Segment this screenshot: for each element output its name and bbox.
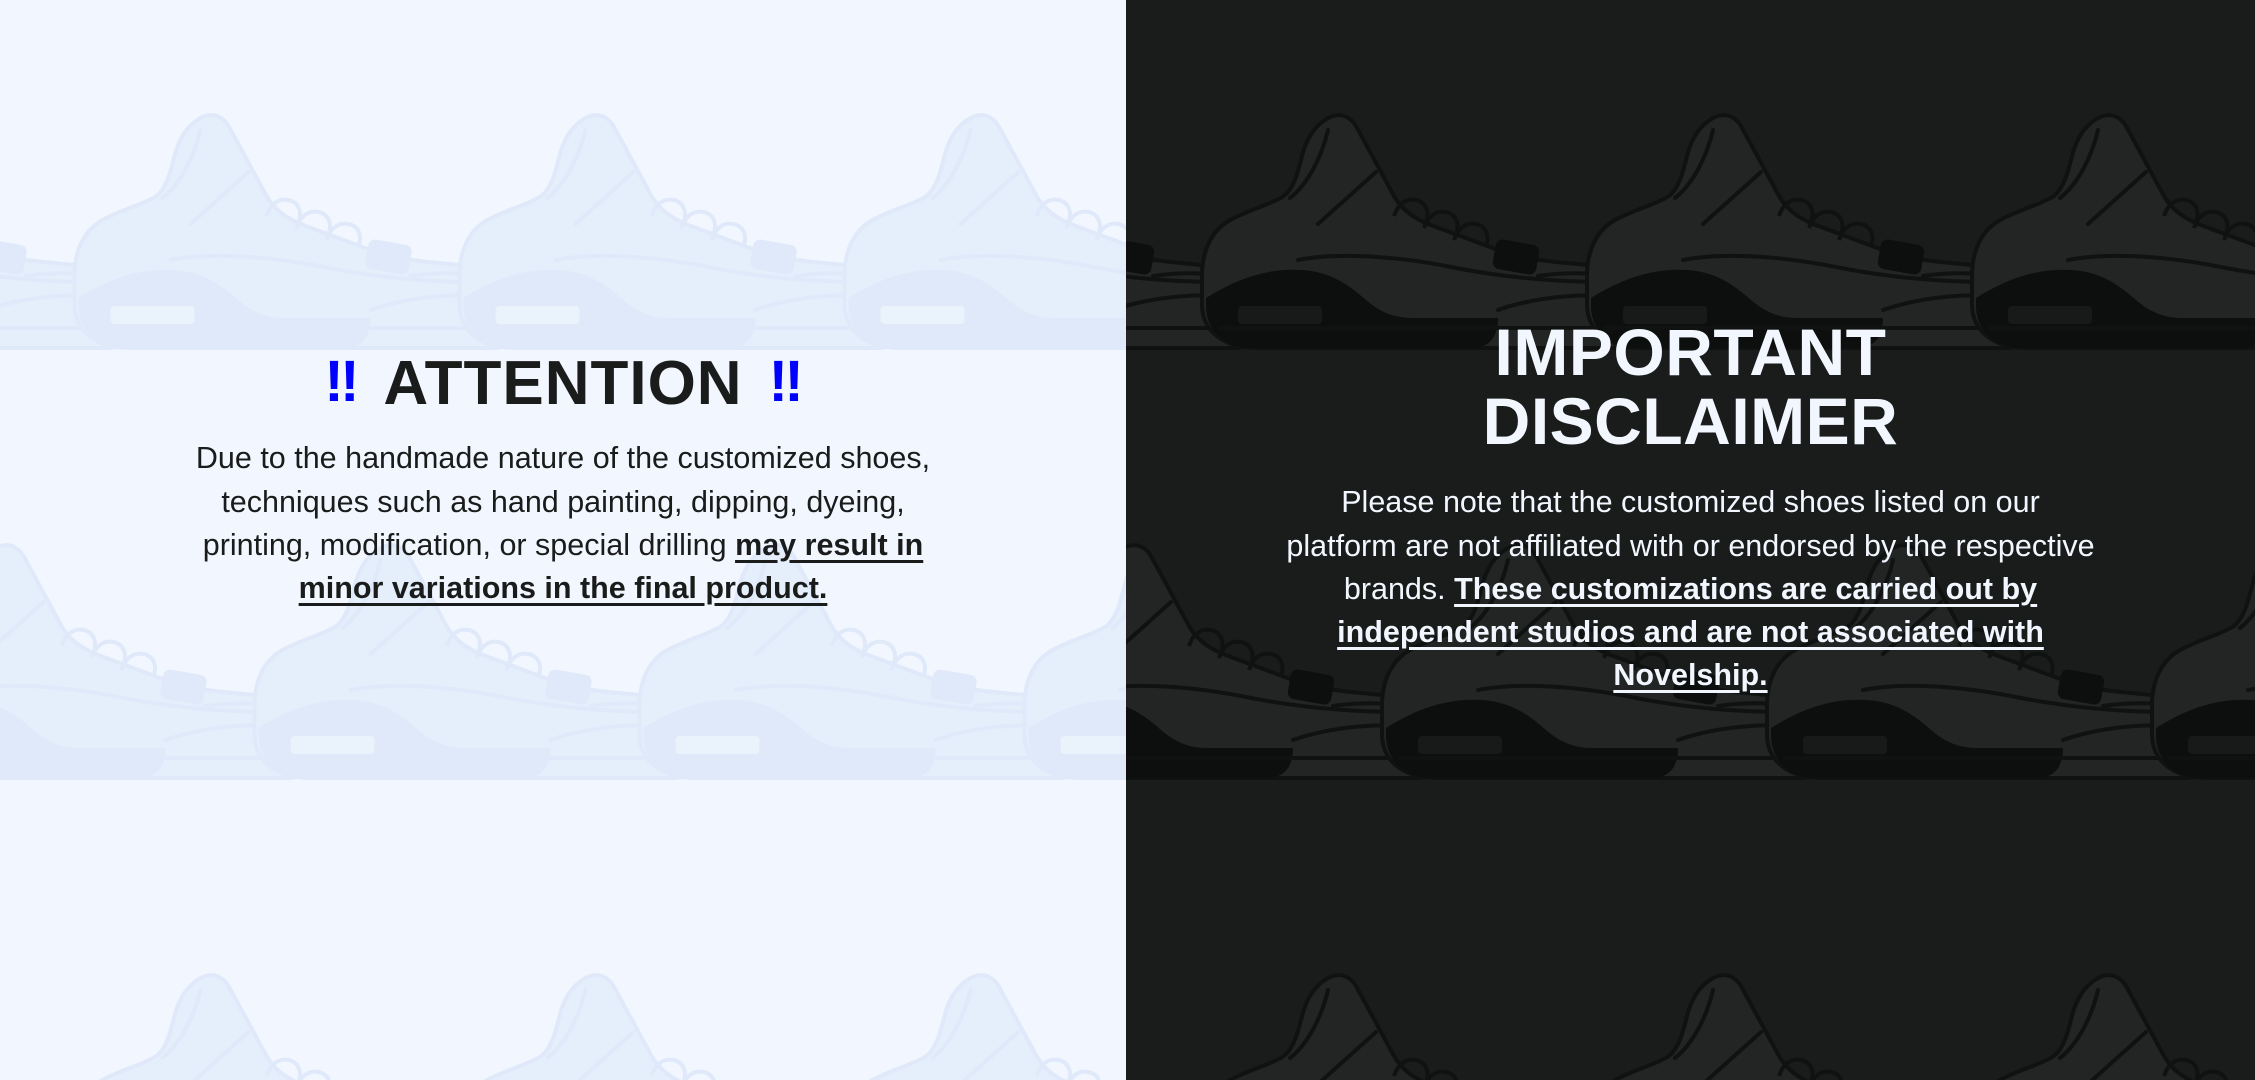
disclaimer-heading: IMPORTANT DISCLAIMER <box>1126 318 2255 455</box>
attention-heading-text: ATTENTION <box>383 352 742 415</box>
disclaimer-heading-line1: IMPORTANT <box>1126 318 2255 387</box>
attention-heading: ‼ ATTENTION ‼ <box>0 352 1126 415</box>
attention-panel: ‼ ATTENTION ‼ Due to the handmade nature… <box>0 0 1126 1080</box>
attention-content: ‼ ATTENTION ‼ Due to the handmade nature… <box>0 0 1126 610</box>
disclaimer-panel: IMPORTANT DISCLAIMER Please note that th… <box>1126 0 2255 1080</box>
attention-body: Due to the handmade nature of the custom… <box>168 437 958 610</box>
double-exclamation-icon-right: ‼ <box>769 353 802 411</box>
disclaimer-content: IMPORTANT DISCLAIMER Please note that th… <box>1126 0 2255 698</box>
disclaimer-body: Please note that the customized shoes li… <box>1283 481 2098 697</box>
double-exclamation-icon-left: ‼ <box>324 353 357 411</box>
disclaimer-heading-line2: DISCLAIMER <box>1126 387 2255 456</box>
